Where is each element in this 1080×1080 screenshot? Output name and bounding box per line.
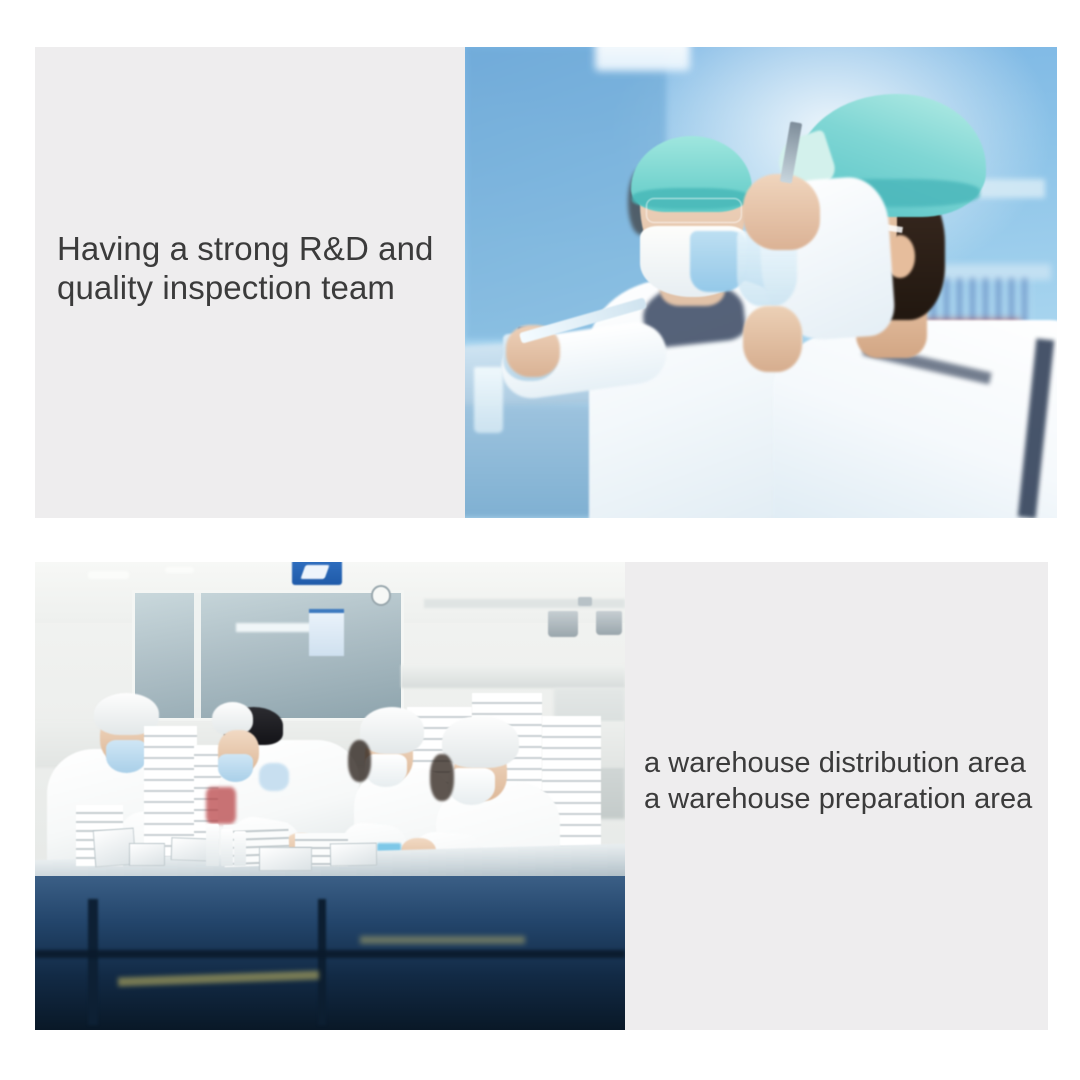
packer-3-hairnet bbox=[360, 707, 425, 754]
packer-4-hairnet bbox=[442, 716, 519, 767]
packer-2-red-item bbox=[206, 787, 236, 824]
table-leg-center bbox=[318, 899, 326, 1025]
carton-4 bbox=[259, 847, 312, 870]
packer-1-face-mask bbox=[106, 740, 147, 773]
product-bottle-3 bbox=[234, 831, 246, 866]
floor-marking-stripe-2 bbox=[360, 936, 525, 943]
cleanroom-scene bbox=[35, 562, 625, 1030]
rd-quality-caption: Having a strong R&D and quality inspecti… bbox=[57, 230, 457, 308]
lab-worker-right-lower-hand bbox=[743, 306, 802, 372]
cleanroom-window-mullion bbox=[194, 590, 201, 721]
packer-4-hair bbox=[430, 754, 454, 801]
lab-inspection-photo bbox=[465, 47, 1057, 518]
section-rd-quality: Having a strong R&D and quality inspecti… bbox=[35, 47, 1057, 518]
cleanroom-ceiling-light-2-icon bbox=[165, 567, 195, 574]
wall-clock-icon bbox=[371, 585, 391, 605]
cleanroom-viewing-window bbox=[132, 590, 403, 721]
packer-2-face-mask bbox=[218, 754, 253, 782]
carton-5 bbox=[330, 842, 378, 866]
rd-quality-text-panel: Having a strong R&D and quality inspecti… bbox=[35, 47, 465, 518]
lab-ceiling-light-icon bbox=[595, 47, 690, 71]
table-lower-rail bbox=[35, 950, 625, 957]
lab-glassware bbox=[474, 367, 504, 433]
lab-worker-right-hand bbox=[743, 174, 820, 249]
product-bottle-2 bbox=[221, 829, 233, 866]
warehouse-text-panel: a warehouse distribution area a warehous… bbox=[625, 562, 1048, 1030]
product-bottle-1 bbox=[206, 824, 219, 866]
cleanroom-steel-canister-1 bbox=[548, 611, 578, 637]
cleanroom-small-canister bbox=[578, 597, 592, 606]
cleanroom-ceiling-light-icon bbox=[88, 571, 129, 578]
table-leg-left bbox=[88, 899, 97, 1025]
packer-2-badge bbox=[259, 763, 289, 791]
warehouse-packing-photo bbox=[35, 562, 625, 1030]
packer-3-hair bbox=[348, 740, 372, 782]
cleanroom-wall-shelf bbox=[424, 599, 625, 607]
section-warehouse-areas: a warehouse distribution area a warehous… bbox=[35, 562, 1048, 1030]
cleanroom-interior-light bbox=[236, 623, 319, 632]
cleanroom-back-counter bbox=[401, 665, 625, 688]
page-root: Having a strong R&D and quality inspecti… bbox=[0, 0, 1080, 1080]
cleanroom-steel-canister-2 bbox=[596, 611, 623, 634]
cleanroom-notice-board bbox=[309, 609, 343, 656]
lab-scene bbox=[465, 47, 1057, 518]
packer-3-face-mask bbox=[365, 754, 406, 787]
carton-2 bbox=[129, 843, 164, 866]
lab-worker-left-safety-glasses bbox=[646, 198, 743, 224]
warehouse-caption: a warehouse distribution area a warehous… bbox=[644, 746, 1054, 817]
